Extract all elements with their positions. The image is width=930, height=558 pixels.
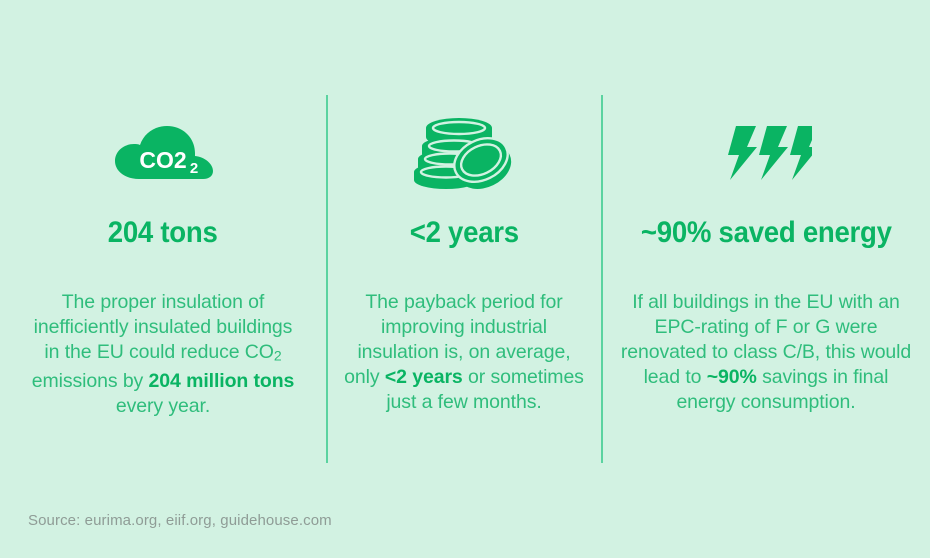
- infographic-root: CO2 2 204 tons The proper insulation of …: [0, 0, 930, 558]
- stat-column-co2: CO2 2 204 tons The proper insulation of …: [0, 95, 326, 419]
- body-highlight: <2 years: [385, 366, 463, 388]
- source-attribution: Source: eurima.org, eiif.org, guidehouse…: [28, 512, 332, 529]
- stat-body-co2: The proper insulation of inefficiently i…: [24, 290, 302, 419]
- stat-columns: CO2 2 204 tons The proper insulation of …: [0, 95, 930, 465]
- body-segment-tail: every year.: [116, 395, 210, 417]
- stat-headline-energy: ~90% saved energy: [641, 216, 892, 250]
- co2-cloud-icon: CO2 2: [105, 123, 221, 183]
- co2-icon-label: CO2: [139, 147, 186, 173]
- body-highlight: ~90%: [707, 366, 757, 388]
- body-highlight: 204 million tons: [149, 370, 295, 392]
- co2-cloud-icon-box: CO2 2: [105, 95, 221, 210]
- stat-headline-payback: <2 years: [409, 216, 518, 250]
- stat-column-energy: ~90% saved energy If all buildings in th…: [602, 95, 930, 415]
- stat-body-energy: If all buildings in the EU with an EPC-r…: [620, 290, 912, 415]
- lightning-bolts-icon-box: [720, 95, 812, 210]
- coin-stack-icon: [408, 114, 520, 192]
- co2-icon-subscript: 2: [190, 160, 198, 177]
- stat-headline-co2: 204 tons: [108, 216, 218, 250]
- stat-body-payback: The payback period for improving industr…: [340, 290, 588, 415]
- co2-subscript: 2: [274, 348, 282, 364]
- coin-stack-icon-box: [408, 95, 520, 210]
- lightning-bolts-icon: [720, 126, 812, 180]
- stat-column-payback: <2 years The payback period for improvin…: [326, 95, 602, 415]
